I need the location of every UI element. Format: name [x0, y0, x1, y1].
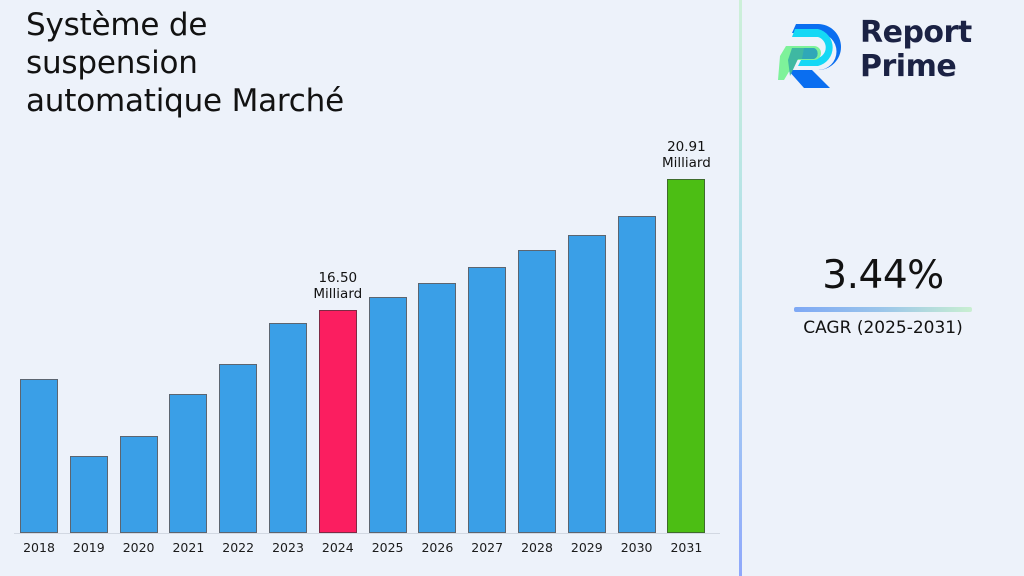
cagr-block: 3.44% CAGR (2025-2031)	[742, 255, 1024, 338]
brand-name: Report Prime	[860, 16, 972, 84]
x-tick-2022: 2022	[213, 540, 263, 555]
x-tick-2024: 2024	[313, 540, 363, 555]
x-tick-2028: 2028	[512, 540, 562, 555]
cagr-caption: CAGR (2025-2031)	[742, 318, 1024, 338]
bar-2031	[667, 179, 705, 533]
x-tick-2031: 2031	[661, 540, 711, 555]
x-tick-2029: 2029	[562, 540, 612, 555]
bar-2018	[20, 379, 58, 533]
x-tick-2021: 2021	[163, 540, 213, 555]
brand-panel: Report Prime 3.44% CAGR (2025-2031)	[742, 0, 1024, 576]
bar-2027	[468, 267, 506, 533]
x-tick-2019: 2019	[64, 540, 114, 555]
x-tick-2020: 2020	[114, 540, 164, 555]
infographic-root: Système de suspension automatique Marché…	[0, 0, 1024, 576]
bar-2023	[269, 323, 307, 533]
x-tick-2026: 2026	[412, 540, 462, 555]
x-tick-2025: 2025	[363, 540, 413, 555]
brand-logo: Report Prime	[778, 12, 1008, 92]
bar-2028	[518, 250, 556, 533]
bar-2030	[618, 216, 656, 533]
bar-2025	[369, 297, 407, 533]
bar-2024	[319, 310, 357, 533]
cagr-value: 3.44%	[742, 255, 1024, 298]
x-axis-line	[14, 533, 720, 534]
bar-2019	[70, 456, 108, 533]
x-tick-2030: 2030	[612, 540, 662, 555]
bar-2022	[219, 364, 257, 533]
report-prime-r-logo-icon	[778, 16, 850, 88]
bar-chart: 20182019202020212022202316.50 Milliard20…	[0, 0, 739, 576]
bar-value-label-2031: 20.91 Milliard	[641, 139, 731, 172]
x-tick-2018: 2018	[14, 540, 64, 555]
bar-2026	[418, 283, 456, 533]
bar-2029	[568, 235, 606, 533]
x-tick-2027: 2027	[462, 540, 512, 555]
bar-2020	[120, 436, 158, 533]
chart-panel: Système de suspension automatique Marché…	[0, 0, 739, 576]
bar-2021	[169, 394, 207, 533]
cagr-divider-rule	[794, 307, 972, 312]
x-tick-2023: 2023	[263, 540, 313, 555]
